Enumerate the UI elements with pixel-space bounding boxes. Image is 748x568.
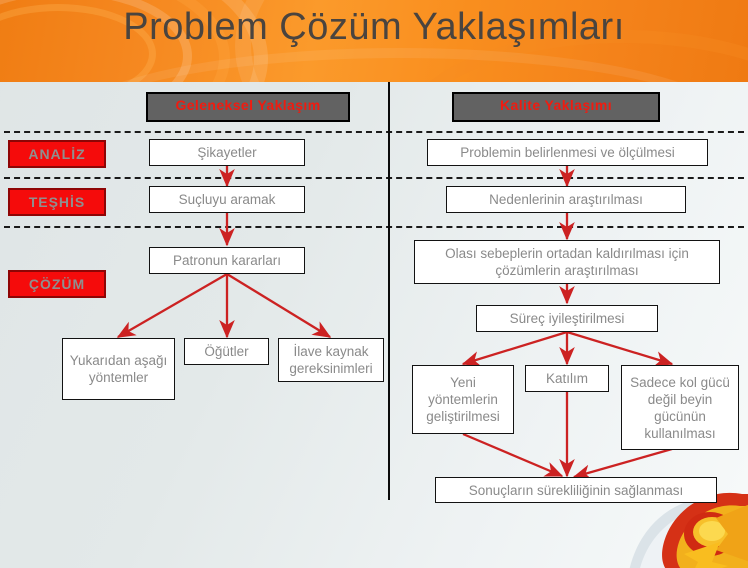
right-outcome-1: Yeni yöntemlerin geliştirilmesi [412, 365, 514, 434]
left-flow-step-2: Suçluyu aramak [149, 186, 305, 213]
arrow-right-4-out1 [463, 332, 567, 364]
right-flow-final: Sonuçların sürekliliğinin sağlanması [435, 477, 717, 503]
right-flow-step-3: Olası sebeplerin ortadan kaldırılması iç… [414, 240, 720, 284]
right-outcome-2: Katılım [525, 365, 609, 392]
arrow-right-out1-final [463, 434, 562, 476]
left-flow-step-1: Şikayetler [149, 139, 305, 166]
right-flow-step-4: Süreç iyileştirilmesi [476, 305, 658, 332]
right-flow-step-1: Problemin belirlenmesi ve ölçülmesi [427, 139, 708, 166]
arrow-right-4-out3 [567, 332, 672, 364]
slide-canvas: Problem Çözüm Yaklaşımları [0, 0, 748, 568]
arrow-right-out3-final [574, 449, 672, 477]
right-outcome-3: Sadece kol gücü değil beyin gücünün kull… [621, 365, 739, 450]
left-outcome-2: Öğütler [184, 338, 269, 365]
arrow-left-3-out3 [227, 274, 330, 337]
arrow-left-3-out1 [118, 274, 227, 337]
left-flow-step-3: Patronun kararları [149, 247, 305, 274]
left-outcome-3: İlave kaynak gereksinimleri [278, 338, 384, 382]
left-outcome-1: Yukarıdan aşağı yöntemler [62, 338, 175, 400]
right-flow-step-2: Nedenlerinin araştırılması [446, 186, 686, 213]
